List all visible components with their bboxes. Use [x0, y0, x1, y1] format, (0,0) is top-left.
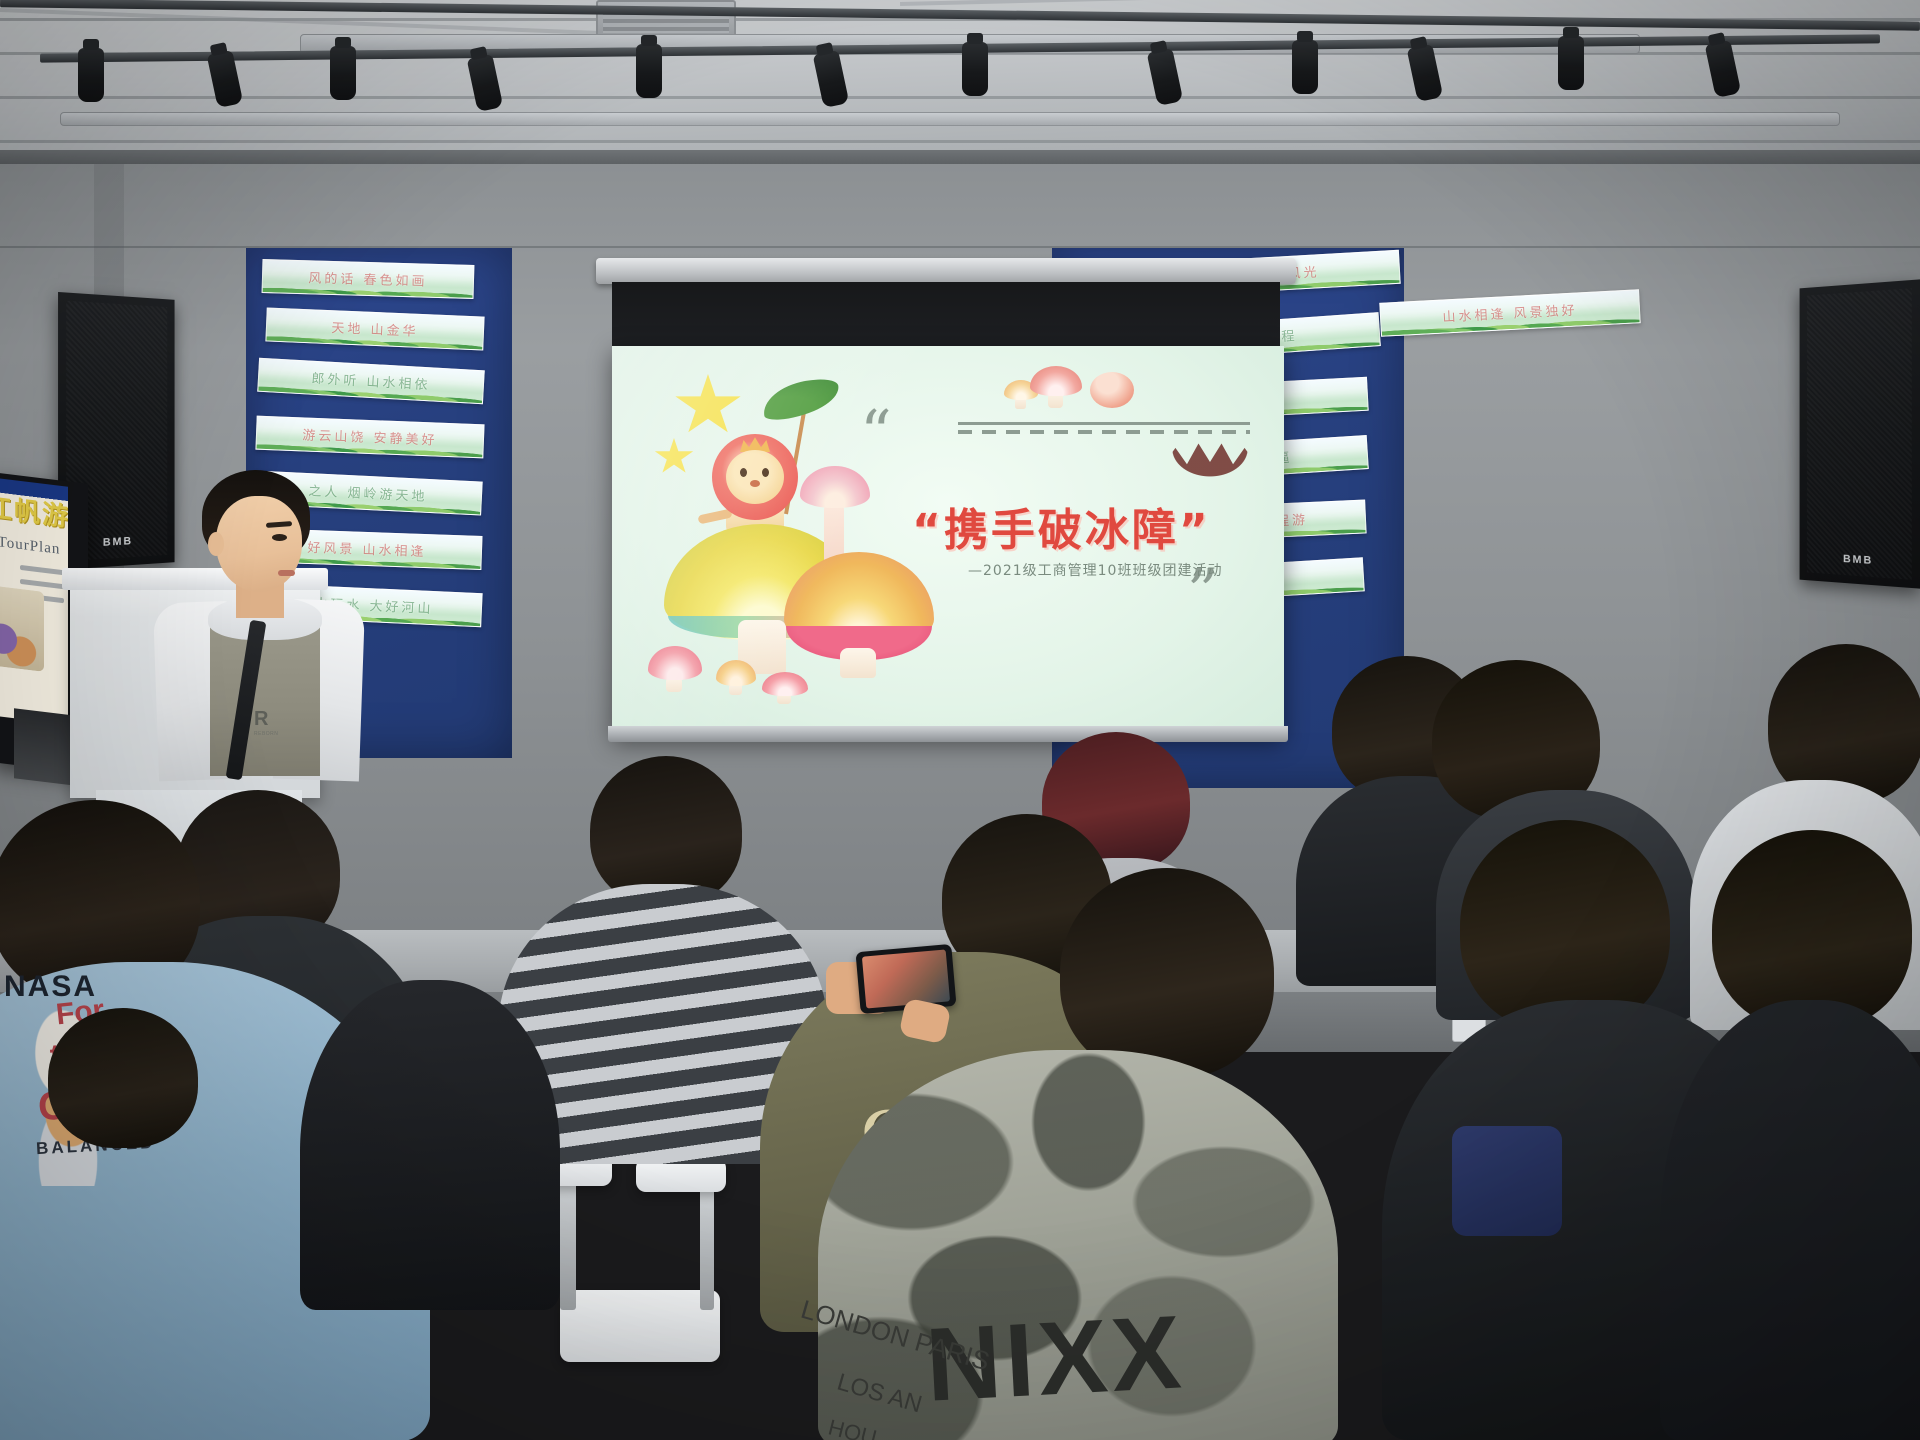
leaf-icon — [760, 375, 843, 422]
audience-backpack — [1452, 1126, 1562, 1236]
slide-title: “携手破冰障” — [912, 494, 1211, 558]
presenter: R REBORN — [150, 470, 360, 770]
audience-head — [48, 1008, 198, 1148]
presenter-logo-sub: REBORN — [254, 731, 278, 737]
speaker-right: BMB — [1800, 279, 1920, 588]
spotlight-icon — [962, 42, 988, 96]
spotlight-icon — [636, 44, 662, 98]
balloon-icon — [1090, 372, 1134, 408]
chair-back — [560, 1290, 720, 1362]
presenter-shirt-logo: R REBORN — [254, 708, 278, 737]
spotlight-icon — [1292, 40, 1318, 94]
wall-strip: 风的话 春色如画 — [262, 259, 475, 299]
mushroom-icon — [784, 552, 934, 678]
chair-leg — [560, 1180, 576, 1310]
quote-open-icon: “ — [860, 408, 892, 458]
chair-leg — [700, 1184, 714, 1310]
star-icon — [654, 438, 694, 476]
mushroom-icon — [716, 660, 756, 696]
poster-headline-cn: 江帆游 — [0, 487, 68, 535]
projector-screen-masking — [612, 282, 1280, 354]
slide-rule-solid — [958, 422, 1250, 425]
wall-beam — [0, 150, 1920, 164]
tour-plan-poster: 江帆游 TourPlan — [0, 477, 68, 725]
spotlight-icon — [1558, 36, 1584, 90]
presenter-logo-letter: R — [254, 708, 266, 730]
phone-screen[interactable] — [862, 949, 950, 1008]
mushroom-icon — [648, 646, 702, 694]
devil-wings-icon — [1162, 440, 1258, 484]
presenter-face — [216, 496, 302, 592]
spotlight-icon — [78, 48, 104, 102]
audience-head — [1060, 868, 1274, 1078]
monitor-stand — [14, 708, 76, 786]
slide-surface: “ “ “携手破冰障” —2021级工商管理10班班级团建活动 — [612, 346, 1284, 738]
ceiling-duct-secondary — [60, 112, 1840, 126]
mushroom-icon — [762, 672, 808, 706]
poster-illustration — [0, 584, 44, 671]
projector-screen-weight-bar — [608, 726, 1288, 742]
poster-headline-en: TourPlan — [0, 533, 68, 560]
mushroom-icon — [1030, 366, 1082, 410]
classroom-photo-scene: 风的话 春色如画 天地 山金华 郎外听 山水相依 游云山饶 安静美好 之人 烟岭… — [0, 0, 1920, 1440]
spotlight-icon — [330, 46, 356, 100]
speaker-brand-label: BMB — [1800, 551, 1920, 571]
slide-subtitle: —2021级工商管理10班班级团建活动 — [968, 560, 1222, 580]
audience-body — [300, 980, 560, 1310]
slide-rule-dashed — [958, 430, 1250, 434]
projector-screen-housing — [596, 258, 1296, 284]
projection-screen: “ “ “携手破冰障” —2021级工商管理10班班级团建活动 — [612, 346, 1284, 738]
